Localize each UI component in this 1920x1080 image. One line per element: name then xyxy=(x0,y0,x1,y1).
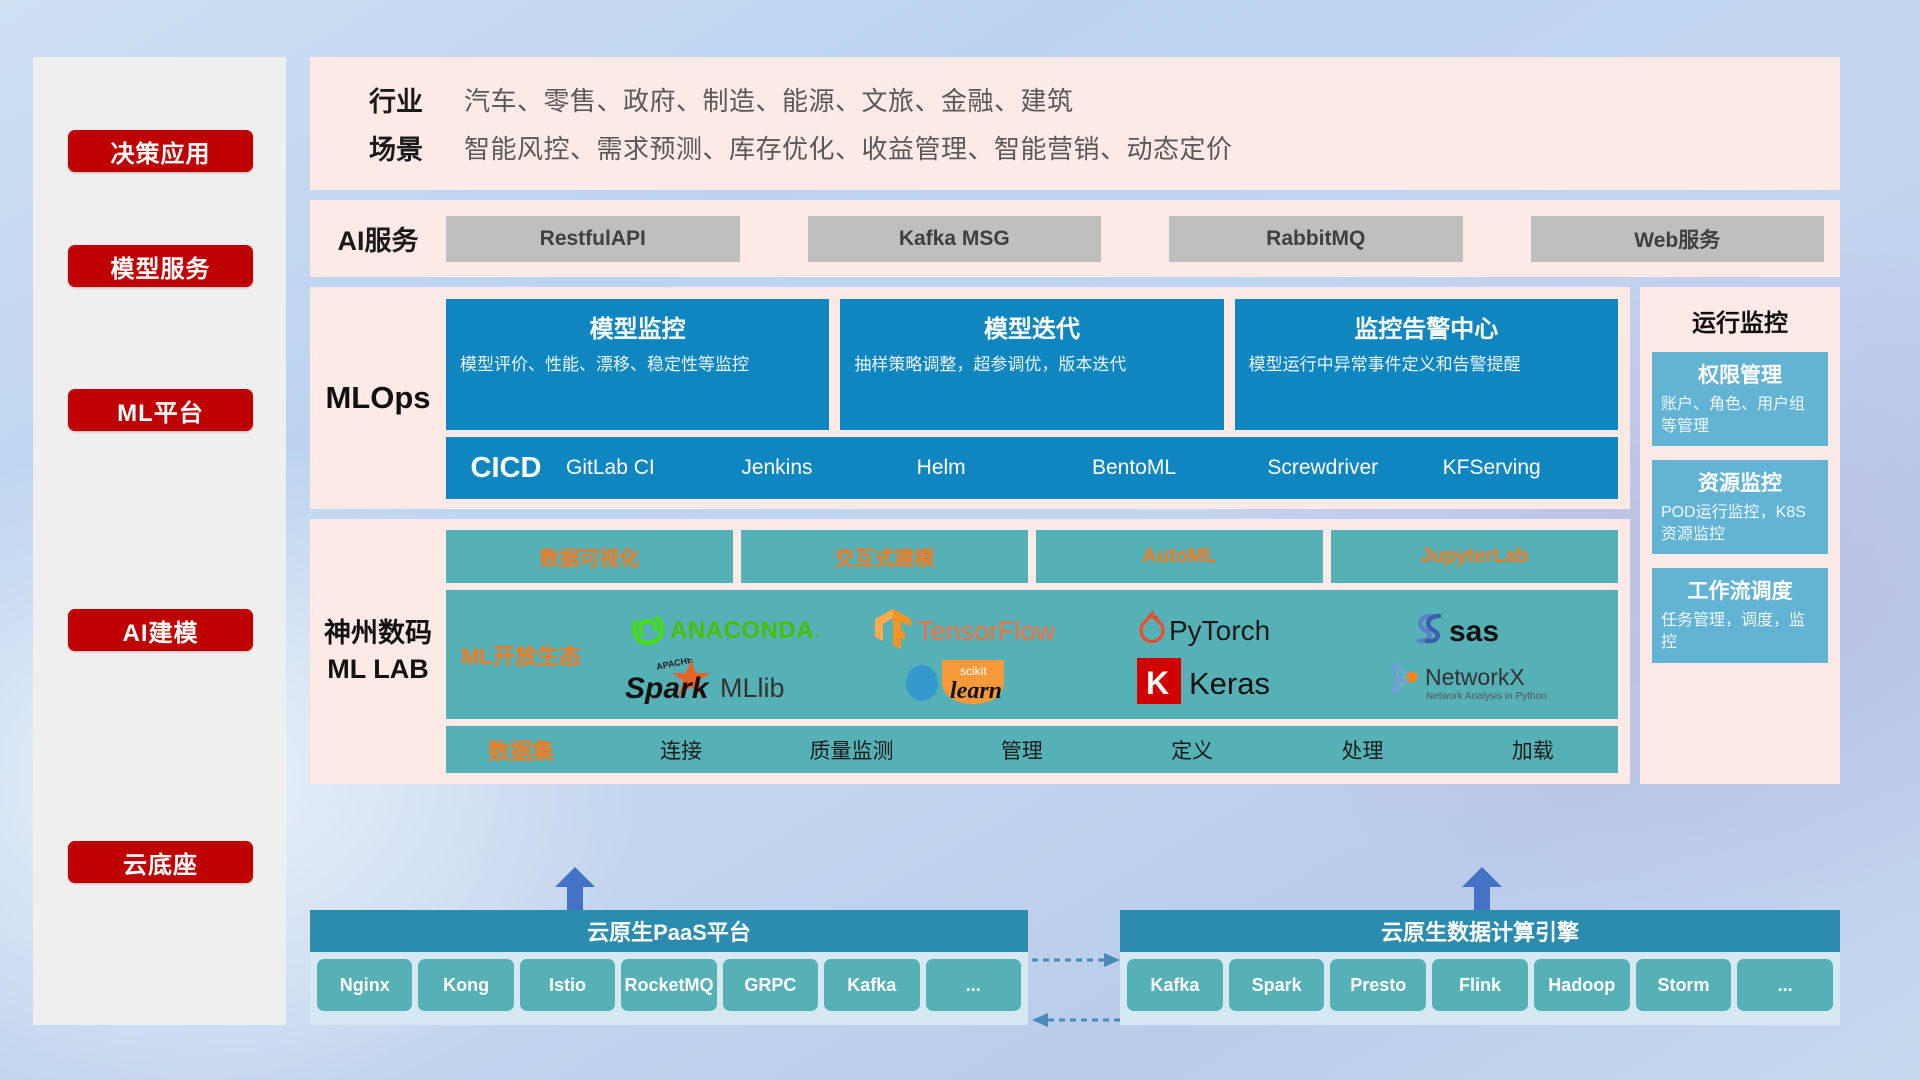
spark-mllib-logo: APACHE Spark MLlib xyxy=(615,658,830,704)
ml-ecosystem-label: ML开放生态 xyxy=(446,639,596,671)
cloud-chip-storm[interactable]: Storm xyxy=(1636,959,1732,1011)
cloud-chip-presto[interactable]: Presto xyxy=(1330,959,1426,1011)
cloud-paas-chip-list: Nginx Kong Istio RocketMQ GRPC Kafka ... xyxy=(310,952,1028,1019)
cicd-title: CICD xyxy=(446,452,566,485)
tool-jupyterlab[interactable]: JupyterLab xyxy=(1331,530,1618,583)
svg-text:Keras: Keras xyxy=(1189,666,1270,701)
svg-text:ANACONDA.: ANACONDA. xyxy=(670,617,817,644)
pytorch-logo: PyTorch xyxy=(1138,608,1323,650)
industry-label: 行业 xyxy=(328,80,464,119)
sas-logo: sas xyxy=(1409,608,1559,650)
cloud-data-engine-title: 云原生数据计算引擎 xyxy=(1120,910,1840,952)
dataset-title: 数据集 xyxy=(446,734,596,766)
card-title: 监控告警中心 xyxy=(1249,309,1604,344)
card-title: 资源监控 xyxy=(1661,467,1819,497)
scenario-row: 场景 智能风控、需求预测、库存优化、收益管理、智能营销、动态定价 xyxy=(328,124,1840,172)
svg-text:PyTorch: PyTorch xyxy=(1169,615,1270,646)
rail-item-ml-platform[interactable]: ML平台 xyxy=(68,389,253,431)
ml-ecosystem-box: ML开放生态 ANACONDA. xyxy=(446,590,1618,719)
rail-item-decision-apps[interactable]: 决策应用 xyxy=(68,130,253,172)
dashed-arrow-right-icon xyxy=(1032,952,1120,973)
ai-modeling-band: 神州数码 ML LAB 数据可视化 交互式建模 AutoML JupyterLa… xyxy=(310,519,1630,784)
dataset-bar: 数据集 连接 质量监测 管理 定义 处理 加载 xyxy=(446,726,1618,773)
rail-item-label: 模型服务 xyxy=(111,249,211,284)
cloud-data-engine-column: 云原生数据计算引擎 Kafka Spark Presto Flink Hadoo… xyxy=(1120,910,1840,1025)
cloud-chip-more[interactable]: ... xyxy=(1737,959,1833,1011)
dataset-item-quality[interactable]: 质量监测 xyxy=(766,735,936,765)
monitor-card-workflow[interactable]: 工作流调度 任务管理，调度，监控 xyxy=(1652,568,1828,662)
tool-interactive-modeling[interactable]: 交互式建模 xyxy=(741,530,1028,583)
cloud-paas-title: 云原生PaaS平台 xyxy=(310,910,1028,952)
rail-item-ai-modeling[interactable]: AI建模 xyxy=(68,609,253,651)
cicd-item-jenkins[interactable]: Jenkins xyxy=(741,455,916,481)
card-desc: 任务管理，调度，监控 xyxy=(1661,610,1819,653)
keras-logo: K Keras xyxy=(1135,656,1325,706)
card-title: 模型监控 xyxy=(460,309,815,344)
ai-service-web[interactable]: Web服务 xyxy=(1531,216,1825,262)
ai-service-restfulapi[interactable]: RestfulAPI xyxy=(446,216,740,262)
ml-lab-label-line1: 神州数码 xyxy=(310,616,446,651)
tool-data-visualization[interactable]: 数据可视化 xyxy=(446,530,733,583)
dashed-arrow-left-icon xyxy=(1032,1012,1120,1033)
mlops-label: MLOps xyxy=(310,380,446,416)
mlops-card-list: 模型监控 模型评价、性能、漂移、稳定性等监控 模型迭代 抽样策略调整，超参调优，… xyxy=(446,299,1618,430)
ml-lab-label: 神州数码 ML LAB xyxy=(310,616,446,686)
dataset-item-define[interactable]: 定义 xyxy=(1107,735,1277,765)
ml-ecosystem-logo-grid: ANACONDA. TensorFlow xyxy=(596,604,1618,706)
rail-item-label: 云底座 xyxy=(123,845,198,880)
card-desc: 模型评价、性能、漂移、稳定性等监控 xyxy=(460,353,815,377)
ai-services-label: AI服务 xyxy=(310,219,446,258)
svg-text:TensorFlow: TensorFlow xyxy=(917,616,1056,646)
dataset-item-load[interactable]: 加载 xyxy=(1448,735,1618,765)
layer-rail-panel: 决策应用 模型服务 ML平台 AI建模 云底座 xyxy=(33,57,286,1025)
ai-services-list: RestfulAPI Kafka MSG RabbitMQ Web服务 xyxy=(446,216,1840,262)
monitor-card-resource[interactable]: 资源监控 POD运行监控，K8S资源监控 xyxy=(1652,460,1828,554)
cloud-paas-column: 云原生PaaS平台 Nginx Kong Istio RocketMQ GRPC… xyxy=(310,910,1028,1025)
mlops-card-alert-center[interactable]: 监控告警中心 模型运行中异常事件定义和告警提醒 xyxy=(1235,299,1618,430)
ai-modeling-content: 数据可视化 交互式建模 AutoML JupyterLab ML开放生态 ANA… xyxy=(446,519,1630,784)
runtime-monitor-panel: 运行监控 权限管理 账户、角色、用户组等管理 资源监控 POD运行监控，K8S资… xyxy=(1640,287,1840,784)
up-arrow-data-engine-icon xyxy=(1462,867,1502,915)
cicd-item-kfserving[interactable]: KFServing xyxy=(1443,455,1618,481)
rail-item-label: 决策应用 xyxy=(111,134,211,169)
cloud-chip-hadoop[interactable]: Hadoop xyxy=(1534,959,1630,1011)
cloud-chip-grpc[interactable]: GRPC xyxy=(723,959,818,1011)
card-title: 工作流调度 xyxy=(1661,575,1819,605)
up-arrow-paas-icon xyxy=(555,867,595,915)
cloud-data-engine-chip-list: Kafka Spark Presto Flink Hadoop Storm ..… xyxy=(1120,952,1840,1019)
cloud-chip-kafka[interactable]: Kafka xyxy=(1127,959,1223,1011)
industry-list: 汽车、零售、政府、制造、能源、文旅、金融、建筑 xyxy=(464,81,1074,118)
card-title: 模型迭代 xyxy=(854,309,1209,344)
cicd-bar: CICD GitLab CI Jenkins Helm BentoML Scre… xyxy=(446,437,1618,499)
cloud-chip-flink[interactable]: Flink xyxy=(1432,959,1528,1011)
cloud-chip-rocketmq[interactable]: RocketMQ xyxy=(621,959,716,1011)
scenario-label: 场景 xyxy=(328,128,464,167)
dataset-item-process[interactable]: 处理 xyxy=(1277,735,1447,765)
card-title: 权限管理 xyxy=(1661,359,1819,389)
ml-lab-label-line2: ML LAB xyxy=(310,652,446,687)
cloud-chip-istio[interactable]: Istio xyxy=(520,959,615,1011)
card-desc: POD运行监控，K8S资源监控 xyxy=(1661,502,1819,545)
cloud-chip-kafka[interactable]: Kafka xyxy=(824,959,919,1011)
tool-automl[interactable]: AutoML xyxy=(1036,530,1323,583)
svg-text:scikit: scikit xyxy=(960,664,987,678)
dataset-item-manage[interactable]: 管理 xyxy=(937,735,1107,765)
rail-item-label: AI建模 xyxy=(123,613,199,648)
dataset-item-connect[interactable]: 连接 xyxy=(596,735,766,765)
tensorflow-logo: TensorFlow xyxy=(871,607,1081,651)
svg-text:MLlib: MLlib xyxy=(720,673,785,703)
rail-item-cloud-base[interactable]: 云底座 xyxy=(68,841,253,883)
svg-text:Spark: Spark xyxy=(625,672,710,704)
cloud-chip-spark[interactable]: Spark xyxy=(1229,959,1325,1011)
industry-row: 行业 汽车、零售、政府、制造、能源、文旅、金融、建筑 xyxy=(328,76,1840,124)
rail-item-label: ML平台 xyxy=(117,393,204,428)
cloud-chip-nginx[interactable]: Nginx xyxy=(317,959,412,1011)
ai-services-band: AI服务 RestfulAPI Kafka MSG RabbitMQ Web服务 xyxy=(310,200,1840,277)
svg-text:sas: sas xyxy=(1449,615,1499,648)
mlops-content: 模型监控 模型评价、性能、漂移、稳定性等监控 模型迭代 抽样策略调整，超参调优，… xyxy=(446,287,1630,509)
anaconda-logo: ANACONDA. xyxy=(627,608,817,650)
ai-service-kafka-msg[interactable]: Kafka MSG xyxy=(808,216,1102,262)
scenario-list: 智能风控、需求预测、库存优化、收益管理、智能营销、动态定价 xyxy=(464,129,1233,166)
mlops-card-model-monitoring[interactable]: 模型监控 模型评价、性能、漂移、稳定性等监控 xyxy=(446,299,829,430)
scikit-learn-logo: scikit learn xyxy=(894,656,1059,706)
svg-text:learn: learn xyxy=(950,678,1002,704)
cicd-item-screwdriver[interactable]: Screwdriver xyxy=(1267,455,1442,481)
rail-item-model-service[interactable]: 模型服务 xyxy=(68,245,253,287)
cloud-base-section: 云原生PaaS平台 Nginx Kong Istio RocketMQ GRPC… xyxy=(310,890,1840,1025)
modeling-tool-row: 数据可视化 交互式建模 AutoML JupyterLab xyxy=(446,530,1618,583)
svg-text:Network Analysis in Python: Network Analysis in Python xyxy=(1426,691,1547,702)
svg-text:K: K xyxy=(1146,665,1169,701)
card-desc: 抽样策略调整，超参调优，版本迭代 xyxy=(854,353,1209,377)
mlops-band: MLOps 模型监控 模型评价、性能、漂移、稳定性等监控 模型迭代 抽样策略调整… xyxy=(310,287,1630,509)
cloud-chip-kong[interactable]: Kong xyxy=(418,959,513,1011)
card-desc: 模型运行中异常事件定义和告警提醒 xyxy=(1249,353,1604,377)
cloud-chip-more[interactable]: ... xyxy=(926,959,1021,1011)
cicd-item-gitlab-ci[interactable]: GitLab CI xyxy=(566,455,741,481)
applications-band: 行业 汽车、零售、政府、制造、能源、文旅、金融、建筑 场景 智能风控、需求预测、… xyxy=(310,57,1840,190)
cicd-item-helm[interactable]: Helm xyxy=(917,455,1092,481)
runtime-monitor-title: 运行监控 xyxy=(1652,303,1828,338)
card-desc: 账户、角色、用户组等管理 xyxy=(1661,394,1819,437)
monitor-card-permission[interactable]: 权限管理 账户、角色、用户组等管理 xyxy=(1652,352,1828,446)
cicd-item-bentoml[interactable]: BentoML xyxy=(1092,455,1267,481)
svg-text:NetworkX: NetworkX xyxy=(1425,664,1525,690)
ai-service-rabbitmq[interactable]: RabbitMQ xyxy=(1169,216,1463,262)
networkx-logo: NetworkX Network Analysis in Python xyxy=(1382,657,1587,705)
mlops-card-model-iteration[interactable]: 模型迭代 抽样策略调整，超参调优，版本迭代 xyxy=(840,299,1223,430)
